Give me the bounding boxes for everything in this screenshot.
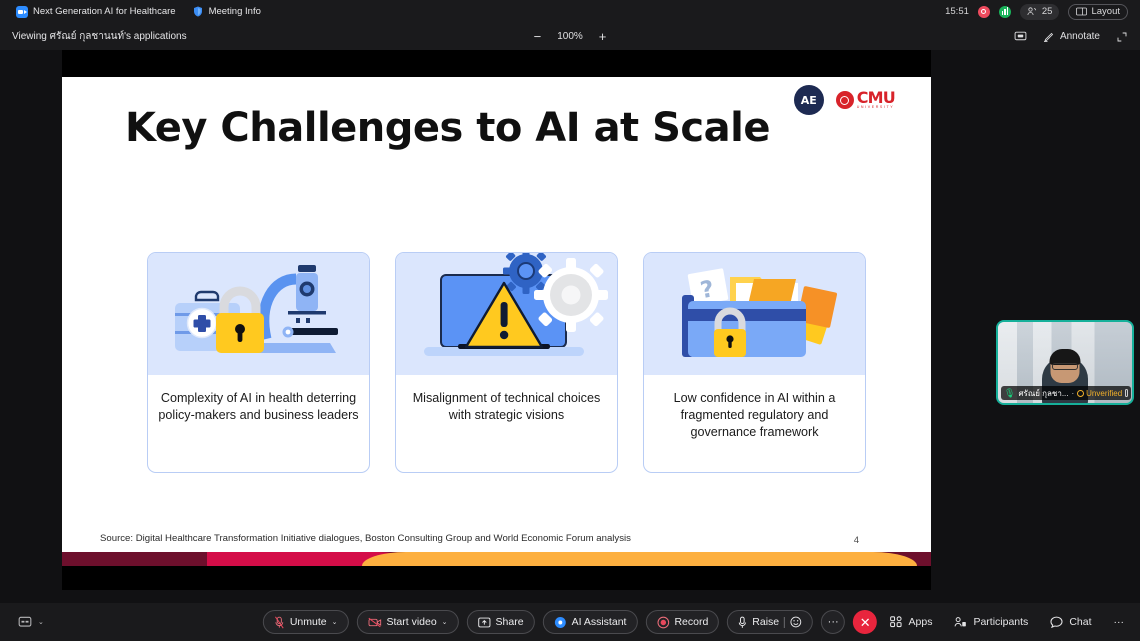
caption-icon (18, 616, 32, 628)
meeting-stage: Key Challenges to AI at Scale AE CMU UNI… (0, 50, 1140, 603)
card-caption: Complexity of AI in health deterring pol… (148, 375, 369, 472)
apps-label: Apps (909, 616, 933, 628)
layout-icon (1076, 7, 1087, 16)
share-screen-icon (478, 617, 491, 628)
leave-meeting-button[interactable]: ✕ (853, 610, 877, 634)
record-label: Record (674, 616, 708, 628)
unmute-label: Unmute (290, 616, 327, 628)
clock: 15:51 (945, 6, 969, 17)
video-pin-icon[interactable] (1125, 389, 1128, 397)
ai-assistant-label: AI Assistant (572, 616, 627, 628)
card-low-confidence: ? (643, 252, 866, 473)
share-label: Share (496, 616, 524, 628)
ae-logo: AE (794, 85, 824, 115)
record-button[interactable]: Record (645, 610, 719, 634)
apps-icon (890, 616, 903, 628)
network-quality-icon[interactable] (999, 6, 1011, 18)
shared-screen-frame[interactable]: Key Challenges to AI at Scale AE CMU UNI… (62, 50, 931, 590)
ai-assistant-icon (554, 616, 567, 629)
zoom-meeting-window: Next Generation AI for Healthcare Meetin… (0, 0, 1140, 641)
divider (784, 617, 785, 628)
tab-meeting[interactable]: Next Generation AI for Healthcare (8, 2, 184, 21)
cmu-seal-icon (836, 91, 854, 109)
annotate-button[interactable]: Annotate (1043, 31, 1100, 43)
view-options-button[interactable] (1014, 31, 1027, 42)
video-off-icon (367, 617, 381, 628)
self-view-name-label: 🎙 ศรัณย์ กุลชา... · Unverified (1001, 386, 1131, 400)
self-view-thumbnail[interactable]: 🎙 ศรัณย์ กุลชา... · Unverified (996, 320, 1134, 405)
annotate-label: Annotate (1060, 31, 1100, 42)
participants-label: Participants (973, 616, 1028, 628)
cmu-logo-sub: UNIVERSITY (857, 106, 895, 110)
self-view-name: ศรัณย์ กุลชา... (1018, 387, 1068, 400)
cmu-logo-text: CMU (857, 90, 895, 106)
more-options-icon[interactable]: ··· (821, 610, 845, 634)
pen-icon (1043, 31, 1055, 43)
self-view-glasses (1052, 363, 1078, 370)
participants-count-pill[interactable]: 25 (1020, 4, 1060, 20)
share-button[interactable]: Share (467, 610, 535, 634)
participants-icon (954, 616, 967, 628)
shield-icon (192, 5, 204, 18)
slide-logos: AE CMU UNIVERSITY (794, 85, 895, 115)
start-video-label: Start video (386, 616, 436, 628)
apps-button[interactable]: Apps (890, 616, 933, 628)
chat-label: Chat (1069, 616, 1091, 628)
share-subheader: Viewing ศรัณย์ กุลชานนท์'s applications … (0, 23, 1140, 50)
slide-source: Source: Digital Healthcare Transformatio… (100, 533, 631, 544)
card-misalignment: Misalignment of technical choices with s… (395, 252, 618, 473)
unverified-label: Unverified (1086, 389, 1122, 398)
meeting-toolbar: ⌄ Unmute ⌄ Start video ⌄ (0, 603, 1140, 641)
start-video-chevron-icon[interactable]: ⌄ (442, 618, 448, 626)
challenge-cards: Complexity of AI in health deterring pol… (147, 252, 866, 473)
screen-icon (1014, 31, 1027, 42)
fullscreen-button[interactable] (1116, 31, 1128, 43)
layout-button[interactable]: Layout (1068, 4, 1128, 20)
zoom-in-button[interactable]: + (597, 30, 609, 43)
hand-raise-icon (738, 616, 747, 629)
caption-chevron-icon[interactable]: ⌄ (38, 618, 44, 626)
zoom-out-button[interactable]: − (532, 30, 544, 43)
raise-hand-button[interactable]: Raise (727, 610, 813, 634)
record-indicator-icon[interactable] (978, 6, 990, 18)
slide-footer-bar (62, 552, 931, 566)
unverified-badge: Unverified (1077, 389, 1122, 398)
zoom-logo-icon (16, 6, 28, 18)
laptop-warning-gears-illustration (396, 253, 617, 375)
toolbar-more-options-icon[interactable]: ··· (1114, 616, 1125, 628)
zoom-controls: − 100% + (532, 30, 609, 43)
slide-title: Key Challenges to AI at Scale (125, 105, 770, 151)
unmute-chevron-icon[interactable]: ⌄ (332, 618, 338, 626)
start-video-button[interactable]: Start video ⌄ (356, 610, 458, 634)
tabbar-right-controls: 15:51 25 Layout (945, 4, 1132, 20)
emoji-icon[interactable] (790, 616, 802, 628)
tab-meeting-info-label: Meeting Info (209, 6, 261, 17)
locked-file-folder-illustration: ? (644, 253, 865, 375)
subheader-right-controls: Annotate (1014, 31, 1128, 43)
warning-circle-icon (1077, 390, 1084, 397)
toolbar-primary-controls: Unmute ⌄ Start video ⌄ Share (263, 610, 877, 634)
participants-icon (1027, 7, 1038, 16)
toolbar-secondary-controls: Apps Participants Chat ··· (890, 616, 1140, 628)
raise-hand-label: Raise (752, 616, 779, 628)
slide-page-number: 4 (854, 535, 859, 546)
medical-kit-microscope-padlock-illustration (148, 253, 369, 375)
layout-label: Layout (1091, 6, 1120, 17)
window-tab-bar: Next Generation AI for Healthcare Meetin… (0, 0, 1140, 23)
caption-controls: ⌄ (0, 616, 44, 628)
presentation-slide: Key Challenges to AI at Scale AE CMU UNI… (62, 77, 931, 566)
ai-assistant-button[interactable]: AI Assistant (543, 610, 638, 634)
tab-meeting-info[interactable]: Meeting Info (184, 2, 269, 21)
participants-button[interactable]: Participants (954, 616, 1028, 628)
record-icon (656, 616, 669, 629)
viewing-label: Viewing ศรัณย์ กุลชานนท์'s applications (12, 29, 187, 44)
card-caption: Low confidence in AI within a fragmented… (644, 375, 865, 472)
chat-icon (1050, 616, 1063, 628)
expand-icon (1116, 31, 1128, 43)
card-caption: Misalignment of technical choices with s… (396, 375, 617, 472)
unmute-button[interactable]: Unmute ⌄ (263, 610, 349, 634)
footer-amber-arc (362, 552, 917, 566)
chat-button[interactable]: Chat (1050, 616, 1091, 628)
cmu-logo: CMU UNIVERSITY (836, 90, 895, 110)
microphone-icon: 🎙 (1004, 389, 1015, 398)
mic-muted-icon (274, 616, 285, 629)
card-complexity: Complexity of AI in health deterring pol… (147, 252, 370, 473)
zoom-level: 100% (557, 31, 583, 42)
caption-button[interactable] (18, 616, 32, 628)
participants-count: 25 (1042, 6, 1053, 17)
tab-meeting-label: Next Generation AI for Healthcare (33, 6, 176, 17)
